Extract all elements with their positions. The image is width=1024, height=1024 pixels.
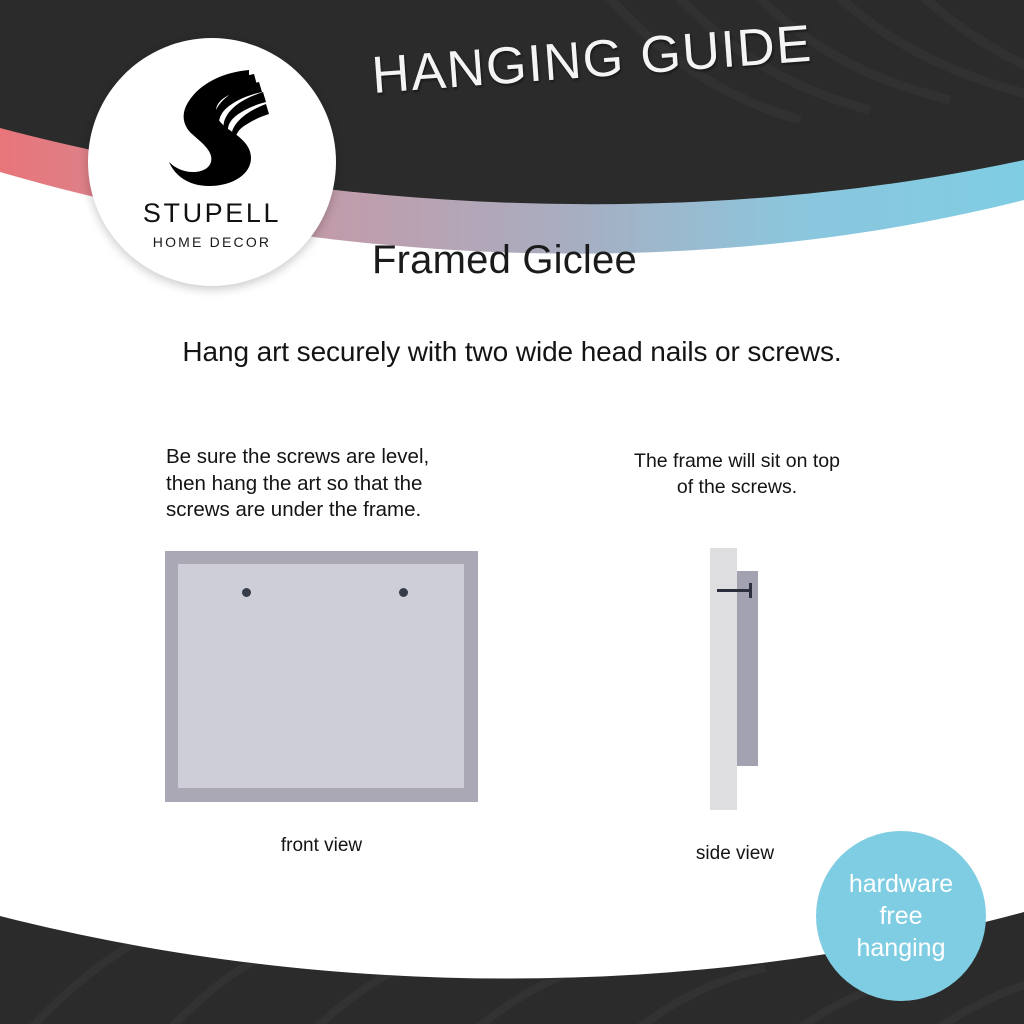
badge-line-2: free <box>879 900 922 932</box>
product-title: Framed Giclee <box>372 238 637 283</box>
front-view-label: front view <box>165 835 478 857</box>
badge-line-3: hanging <box>857 932 946 964</box>
screw-dot-left-icon <box>242 588 251 597</box>
side-view-wall <box>710 548 737 810</box>
front-view-caption-line-1: Be sure the screws are level, <box>166 444 486 471</box>
front-view-caption-line-2: then hang the art so that the <box>166 471 486 498</box>
side-view-caption-line-1: The frame will sit on top <box>592 448 882 474</box>
front-view-frame-diagram <box>165 551 478 802</box>
page-title: HANGING GUIDE <box>370 14 815 106</box>
front-view-mat <box>178 564 464 788</box>
front-view-caption: Be sure the screws are level, then hang … <box>166 444 486 524</box>
side-view-caption-line-2: of the screws. <box>592 474 882 500</box>
badge-line-1: hardware <box>849 868 953 900</box>
side-view-caption: The frame will sit on top of the screws. <box>592 448 882 500</box>
logo-tagline: HOME DECOR <box>153 234 271 250</box>
side-view-label: side view <box>650 843 820 865</box>
hardware-free-hanging-badge: hardware free hanging <box>816 831 986 1001</box>
screw-dot-right-icon <box>399 588 408 597</box>
nail-head-icon <box>749 583 752 598</box>
brand-logo-badge: STUPELL HOME DECOR <box>88 38 336 286</box>
hanging-guide-infographic: HANGING GUIDE STUPELL HOME DECOR Framed … <box>0 0 1024 1024</box>
side-view-frame <box>737 571 758 766</box>
nail-shaft-icon <box>717 589 752 592</box>
intro-instruction: Hang art securely with two wide head nai… <box>0 336 1024 368</box>
logo-wordmark: STUPELL <box>143 198 281 229</box>
front-view-caption-line-3: screws are under the frame. <box>166 497 486 524</box>
stupell-swirl-icon <box>153 64 271 192</box>
